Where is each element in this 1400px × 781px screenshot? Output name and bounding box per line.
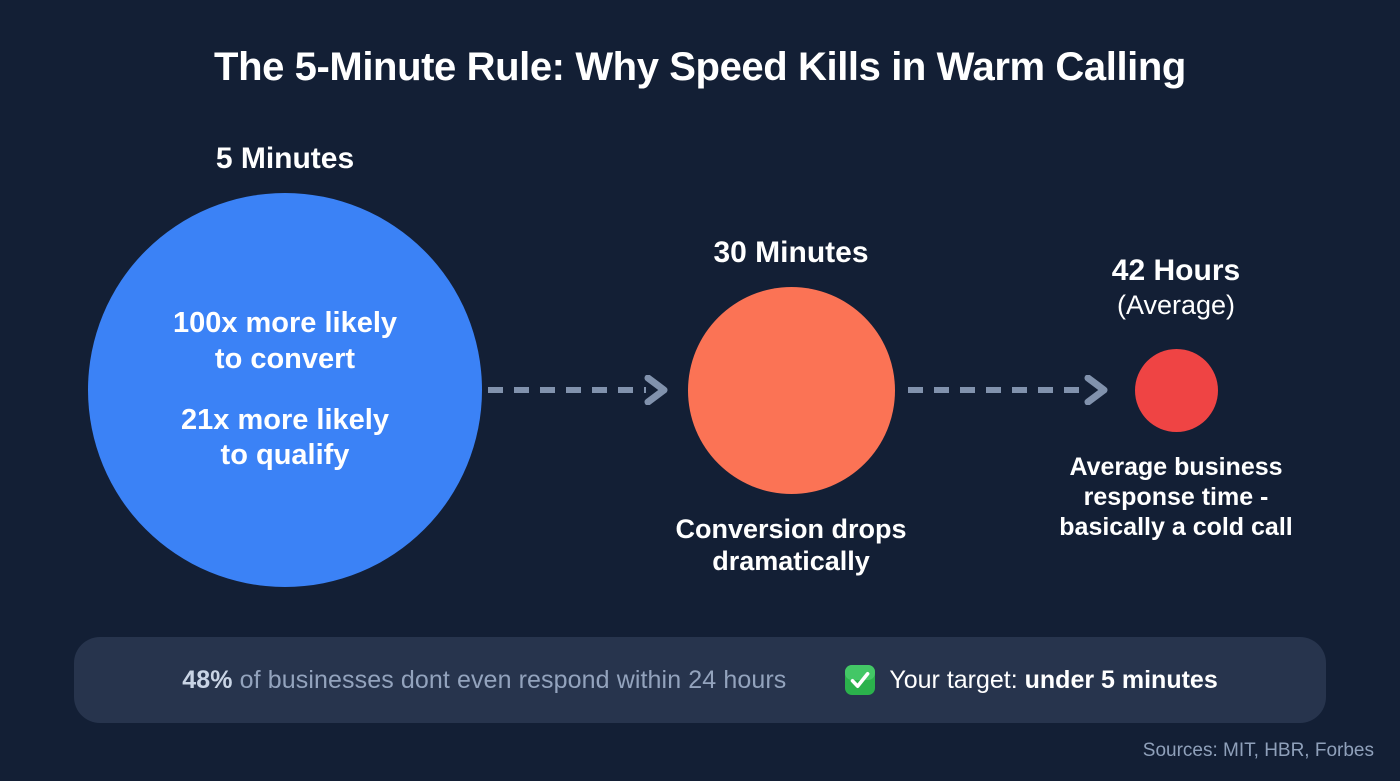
stage-label-42-hours: 42 Hours (Average)	[1026, 254, 1326, 322]
no-response-description: of businesses dont even respond within 2…	[233, 666, 787, 694]
stage-caption-42-hours: Average business response time - basical…	[1026, 452, 1326, 542]
stage-caption-30-minutes: Conversion drops dramatically	[641, 513, 941, 578]
dashed-arrow-right-icon-1	[488, 375, 676, 405]
target-prefix: Your target:	[889, 666, 1024, 694]
stage-label-text: 5 Minutes	[216, 142, 354, 175]
stage-circle-42-hours	[1135, 349, 1218, 432]
benefit-convert-line-1: 100x more likely	[173, 307, 397, 339]
benefit-convert-line-2: to convert	[215, 343, 355, 375]
text-spacer	[120, 377, 450, 403]
caption-line-1: Average business	[1069, 453, 1282, 481]
stage-circle-5-minutes: 100x more likely to convert 21x more lik…	[88, 193, 482, 587]
stage-circle-30-minutes	[688, 287, 895, 494]
sources-note: Sources: MIT, HBR, Forbes	[1143, 740, 1374, 762]
no-response-stat: 48% of businesses dont even respond with…	[182, 666, 786, 695]
caption-line-3: basically a cold call	[1059, 513, 1292, 541]
summary-bar: 48% of businesses dont even respond with…	[74, 637, 1326, 723]
stage-label-5-minutes: 5 Minutes	[85, 142, 485, 177]
white-heavy-check-mark-icon	[844, 664, 876, 696]
benefit-qualify-line-1: 21x more likely	[181, 404, 389, 436]
target-callout: Your target: under 5 minutes	[844, 664, 1217, 696]
target-value: under 5 minutes	[1025, 666, 1218, 694]
caption-line-1: Conversion drops	[675, 514, 906, 544]
caption-line-2: response time -	[1084, 483, 1269, 511]
target-label: Your target: under 5 minutes	[889, 666, 1217, 695]
infographic-canvas: The 5-Minute Rule: Why Speed Kills in Wa…	[0, 0, 1400, 781]
stage-label-30-minutes: 30 Minutes	[641, 236, 941, 271]
stage-sublabel-text: (Average)	[1026, 289, 1326, 323]
dashed-arrow-right-icon-2	[908, 375, 1116, 405]
benefit-qualify-line-2: to qualify	[221, 439, 350, 471]
stage-label-text: 30 Minutes	[713, 236, 868, 269]
caption-line-2: dramatically	[712, 546, 870, 576]
stage-label-text: 42 Hours	[1112, 254, 1240, 287]
page-title: The 5-Minute Rule: Why Speed Kills in Wa…	[0, 45, 1400, 89]
stage-circle-text-5-minutes: 100x more likely to convert 21x more lik…	[120, 306, 450, 474]
no-response-percentage: 48%	[182, 666, 232, 694]
